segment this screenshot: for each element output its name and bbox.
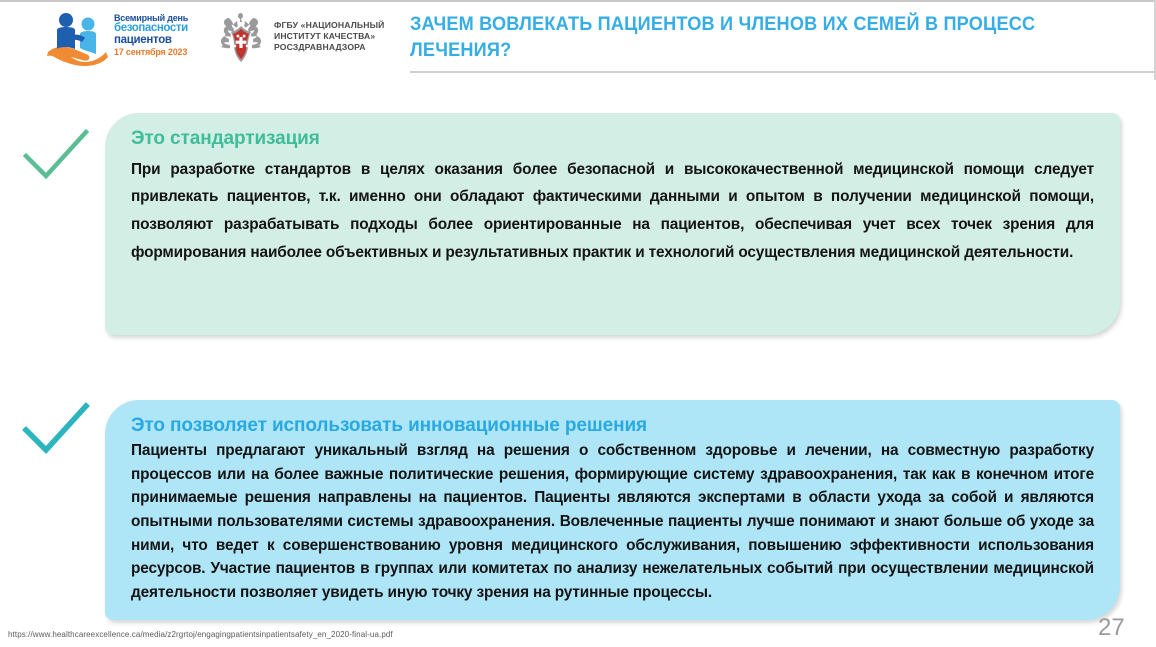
logo-world-patient-safety-day: Всемирный день безопасности пациентов 17… (44, 10, 204, 70)
logo-rzn-line-2: ИНСТИТУТ КАЧЕСТВА» (274, 31, 384, 42)
logo-line-4-date: 17 сентября 2023 (114, 48, 206, 57)
logo-world-patient-safety-day-text: Всемирный день безопасности пациентов 17… (114, 14, 206, 58)
card-body: При разработке стандартов в целях оказан… (131, 156, 1094, 266)
title-underline-divider (410, 71, 1154, 73)
page-title: ЗАЧЕМ ВОВЛЕКАТЬ ПАЦИЕНТОВ И ЧЛЕНОВ ИХ СЕ… (410, 12, 1042, 63)
source-url[interactable]: https://www.healthcareexcellence.ca/medi… (8, 630, 393, 639)
logo-rzn-line-3: РОСЗДРАВНАДЗОРА (274, 42, 384, 53)
logo-roszdravnadzor: ФГБУ «НАЦИОНАЛЬНЫЙ ИНСТИТУТ КАЧЕСТВА» РО… (212, 9, 387, 71)
page-number: 27 (1098, 614, 1125, 642)
card-body: Пациенты предлагают уникальный взгляд на… (131, 439, 1094, 605)
checkmark-icon (22, 126, 90, 182)
patient-safety-hands-icon (44, 12, 110, 66)
card-heading: Это стандартизация (131, 129, 1094, 150)
checkmark-icon (22, 400, 90, 456)
logo-line-3: пациентов (114, 35, 206, 47)
logo-roszdravnadzor-text: ФГБУ «НАЦИОНАЛЬНЫЙ ИНСТИТУТ КАЧЕСТВА» РО… (274, 20, 384, 53)
slide-header: Всемирный день безопасности пациентов 17… (0, 2, 1156, 80)
info-card-innovative-solutions: Это позволяет использовать инновационные… (105, 400, 1120, 620)
slide: Всемирный день безопасности пациентов 17… (0, 0, 1156, 647)
double-headed-eagle-icon (212, 9, 270, 69)
info-card-standardization: Это стандартизация При разработке станда… (105, 113, 1120, 335)
card-heading: Это позволяет использовать инновационные… (131, 416, 1094, 437)
logo-rzn-line-1: ФГБУ «НАЦИОНАЛЬНЫЙ (274, 20, 384, 31)
